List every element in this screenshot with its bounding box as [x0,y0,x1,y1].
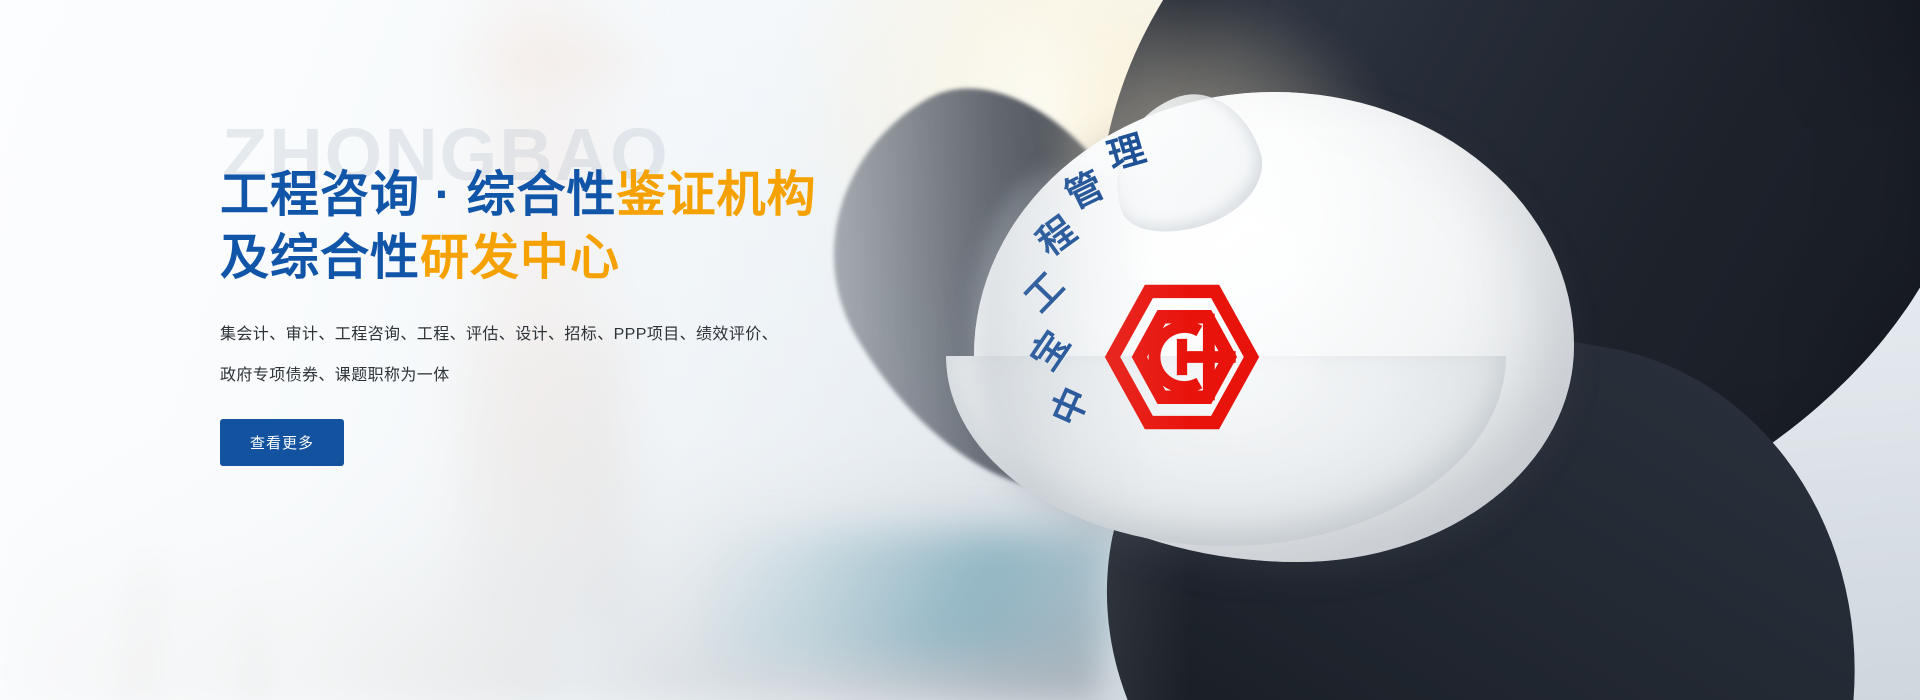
hero-description: 集会计、审计、工程咨询、工程、评估、设计、招标、PPP项目、绩效评价、 政府专项… [220,315,820,397]
headline-line2-blue: 及综合性 [220,231,420,285]
hero-headline-line-1: 工程咨询 · 综合性鉴证机构 [220,164,980,227]
hero-banner: 中 宝 工 程 管 理 [0,0,1920,700]
headline-line1-orange: 鉴证机构 [617,168,817,222]
hero-description-line-2: 政府专项债券、课题职称为一体 [220,356,820,397]
hero-headline-line-2: 及综合性研发中心 [220,227,980,290]
hero-headline: 工程咨询 · 综合性鉴证机构 及综合性研发中心 [220,164,980,289]
view-more-button[interactable]: 查看更多 [220,419,344,466]
hero-content: ZHONGBAO 工程咨询 · 综合性鉴证机构 及综合性研发中心 集会计、审计、… [220,118,980,466]
headline-line1-blue: 工程咨询 · 综合性 [220,168,617,222]
headline-line2-orange: 研发中心 [420,231,620,285]
hero-description-line-1: 集会计、审计、工程咨询、工程、评估、设计、招标、PPP项目、绩效评价、 [220,315,820,356]
